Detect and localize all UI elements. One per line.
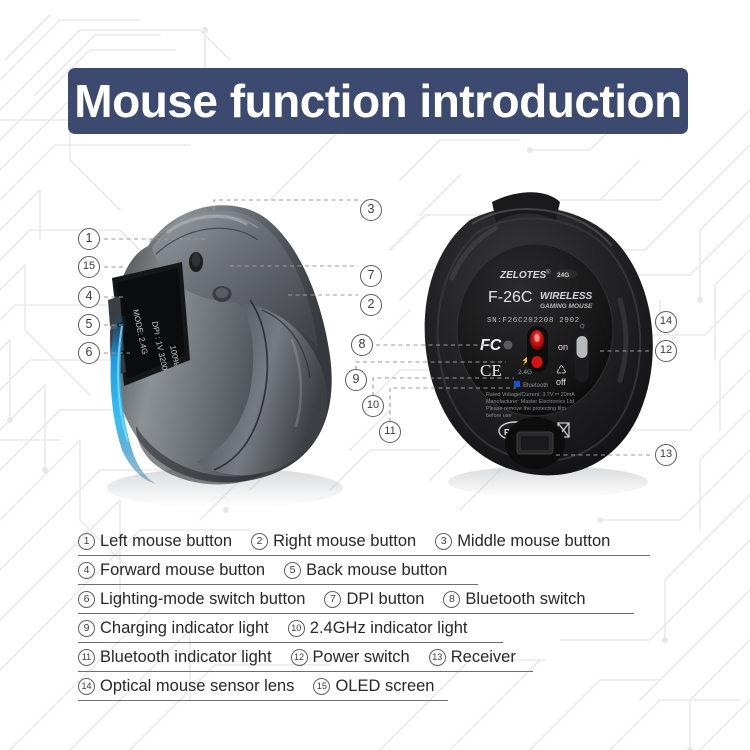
receiver-compartment (505, 417, 565, 469)
legend-label: Right mouse button (273, 532, 416, 551)
fineprint-2: Manufacturer: Master Electronics Ltd (486, 399, 574, 405)
svg-text:♺: ♺ (556, 363, 567, 377)
legend-item-9: 9Charging indicator light (78, 619, 269, 638)
legend-number-10: 10 (288, 620, 305, 637)
legend-number-11: 11 (78, 649, 95, 666)
legend-label: Receiver (451, 648, 516, 667)
legend-number-4: 4 (78, 562, 95, 579)
fineprint-3: Please remove the protecting film (486, 406, 567, 412)
legend-row: 9Charging indicator light102.4GHz indica… (78, 614, 678, 643)
callout-marker-5: 5 (78, 314, 100, 336)
legend-list: 1Left mouse button2Right mouse button3Mi… (78, 527, 678, 701)
brand-text: ZELOTES (499, 270, 546, 281)
legend-item-7: 7DPI button (324, 590, 424, 609)
callout-marker-12: 12 (655, 340, 677, 362)
callout-marker-13: 13 (655, 444, 677, 466)
legend-item-10: 102.4GHz indicator light (288, 619, 468, 638)
power-off-label: off (556, 377, 566, 387)
legend-number-9: 9 (78, 620, 95, 637)
legend-row: 1Left mouse button2Right mouse button3Mi… (78, 527, 678, 556)
legend-number-8: 8 (443, 591, 460, 608)
legend-divider (78, 700, 448, 701)
legend-item-14: 14Optical mouse sensor lens (78, 677, 294, 696)
legend-label: Forward mouse button (100, 561, 265, 580)
fineprint-4: before use (486, 413, 511, 419)
callout-marker-1: 1 (78, 228, 100, 250)
legend-item-6: 6Lighting-mode switch button (78, 590, 305, 609)
legend-row: 14Optical mouse sensor lens15OLED screen (78, 672, 678, 701)
legend-label: Left mouse button (100, 532, 232, 551)
legend-row: 4Forward mouse button5Back mouse button (78, 556, 678, 585)
mouse-perspective-view: MODE: 2.4G DPI : 1V 3200 100% (107, 205, 343, 508)
legend-label: Bluetooth indicator light (100, 648, 272, 667)
legend-number-6: 6 (78, 591, 95, 608)
legend-number-1: 1 (78, 533, 95, 550)
bluetooth-indicator-light (514, 381, 520, 387)
legend-item-13: 13Receiver (429, 648, 516, 667)
callout-marker-9: 9 (345, 369, 367, 391)
legend-item-3: 3Middle mouse button (435, 532, 610, 551)
svg-text:GAMING MOUSE: GAMING MOUSE (540, 303, 593, 310)
legend-label: Bluetooth switch (465, 590, 585, 609)
callout-marker-2: 2 (360, 294, 382, 316)
callout-marker-8: 8 (351, 334, 373, 356)
legend-item-15: 15OLED screen (313, 677, 434, 696)
legend-number-7: 7 (324, 591, 341, 608)
svg-text:24G: 24G (557, 272, 569, 279)
serial-text: SN:F26C202208 2902 (487, 317, 580, 325)
legend-item-5: 5Back mouse button (284, 561, 447, 580)
callout-marker-4: 4 (78, 286, 100, 308)
callout-marker-6: 6 (78, 342, 100, 364)
model-text: F-26C (488, 289, 532, 306)
legend-number-5: 5 (284, 562, 301, 579)
charging-indicator-light (504, 341, 513, 350)
bluetooth-label: Bluetooth (523, 383, 548, 389)
power-on-label: on (558, 342, 568, 352)
legend-label: DPI button (346, 590, 424, 609)
legend-label: 2.4GHz indicator light (310, 619, 468, 638)
callout-marker-10: 10 (362, 395, 384, 417)
optical-sensor-lens (527, 326, 548, 372)
legend-label: OLED screen (335, 677, 434, 696)
fineprint-1: Rated Voltage/Current: 3.7V ⎓ 20mA (486, 392, 575, 398)
svg-text:®: ® (546, 269, 551, 276)
legend-label: Optical mouse sensor lens (100, 677, 294, 696)
ce-mark: CE (480, 361, 502, 380)
callout-marker-15: 15 (78, 256, 100, 278)
legend-number-3: 3 (435, 533, 452, 550)
legend-row: 6Lighting-mode switch button7DPI button8… (78, 585, 678, 614)
callout-marker-3: 3 (360, 199, 382, 221)
callout-marker-7: 7 (360, 265, 382, 287)
legend-label: Back mouse button (306, 561, 447, 580)
legend-label: Power switch (313, 648, 410, 667)
callout-marker-14: 14 (655, 311, 677, 333)
mode-24g-label: 2.4G (518, 369, 532, 376)
legend-label: Lighting-mode switch button (100, 590, 305, 609)
legend-item-8: 8Bluetooth switch (443, 590, 585, 609)
legend-number-14: 14 (78, 678, 95, 695)
legend-number-15: 15 (313, 678, 330, 695)
legend-row: 11Bluetooth indicator light12Power switc… (78, 643, 678, 672)
page-title: Mouse function introduction (74, 78, 681, 124)
legend-item-1: 1Left mouse button (78, 532, 232, 551)
legend-number-13: 13 (429, 649, 446, 666)
legend-number-2: 2 (251, 533, 268, 550)
page-title-banner: Mouse function introduction (68, 68, 688, 134)
legend-number-12: 12 (291, 649, 308, 666)
legend-item-2: 2Right mouse button (251, 532, 416, 551)
callout-marker-11: 11 (379, 421, 401, 443)
svg-text:WIRELESS: WIRELESS (540, 291, 593, 302)
svg-text:☼: ☼ (578, 320, 586, 330)
legend-label: Middle mouse button (457, 532, 610, 551)
legend-label: Charging indicator light (100, 619, 269, 638)
legend-item-11: 11Bluetooth indicator light (78, 648, 272, 667)
legend-item-4: 4Forward mouse button (78, 561, 265, 580)
legend-item-12: 12Power switch (291, 648, 410, 667)
